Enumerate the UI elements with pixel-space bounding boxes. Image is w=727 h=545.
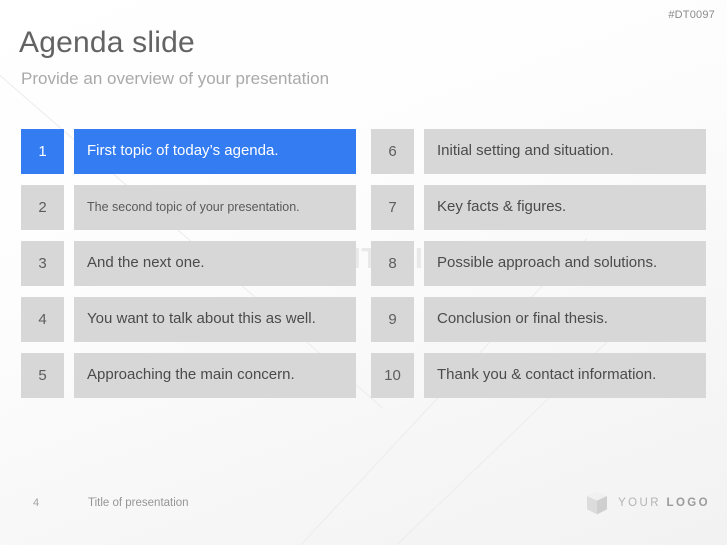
agenda-item-number: 10 <box>371 353 414 398</box>
agenda-item-3[interactable]: 3And the next one. <box>21 241 356 286</box>
agenda-item-7[interactable]: 7Key facts & figures. <box>371 185 706 230</box>
logo-text-light: YOUR <box>618 497 666 509</box>
agenda-column-left: 1First topic of today’s agenda.2The seco… <box>21 129 356 409</box>
agenda-item-label: And the next one. <box>74 241 356 286</box>
agenda-item-label: Possible approach and solutions. <box>424 241 706 286</box>
agenda-slide: PRESENTATIONLOAD #DT0097 Agenda slide Pr… <box>0 0 727 545</box>
agenda-item-label: Initial setting and situation. <box>424 129 706 174</box>
logo: YOUR LOGO <box>586 491 710 515</box>
agenda-item-label: You want to talk about this as well. <box>74 297 356 342</box>
agenda-item-8[interactable]: 8Possible approach and solutions. <box>371 241 706 286</box>
agenda-item-label: Approaching the main concern. <box>74 353 356 398</box>
agenda-grid: 1First topic of today’s agenda.2The seco… <box>0 0 727 545</box>
agenda-item-label: Thank you & contact information. <box>424 353 706 398</box>
agenda-item-number: 8 <box>371 241 414 286</box>
logo-text: YOUR LOGO <box>618 497 710 509</box>
cube-logo-icon <box>586 491 608 515</box>
agenda-item-number: 3 <box>21 241 64 286</box>
agenda-item-4[interactable]: 4You want to talk about this as well. <box>21 297 356 342</box>
agenda-item-2[interactable]: 2The second topic of your presentation. <box>21 185 356 230</box>
agenda-item-6[interactable]: 6Initial setting and situation. <box>371 129 706 174</box>
agenda-item-number: 5 <box>21 353 64 398</box>
agenda-item-number: 2 <box>21 185 64 230</box>
agenda-item-label: Key facts & figures. <box>424 185 706 230</box>
agenda-item-10[interactable]: 10Thank you & contact information. <box>371 353 706 398</box>
agenda-item-5[interactable]: 5Approaching the main concern. <box>21 353 356 398</box>
agenda-item-number: 7 <box>371 185 414 230</box>
footer-presentation-title: Title of presentation <box>88 497 189 509</box>
agenda-item-1[interactable]: 1First topic of today’s agenda. <box>21 129 356 174</box>
logo-text-bold: LOGO <box>667 497 710 509</box>
agenda-item-label: First topic of today’s agenda. <box>74 129 356 174</box>
agenda-item-number: 6 <box>371 129 414 174</box>
agenda-item-9[interactable]: 9Conclusion or final thesis. <box>371 297 706 342</box>
agenda-item-number: 1 <box>21 129 64 174</box>
agenda-column-right: 6Initial setting and situation.7Key fact… <box>371 129 706 409</box>
agenda-item-number: 4 <box>21 297 64 342</box>
footer-page-number: 4 <box>33 497 39 509</box>
agenda-item-label: The second topic of your presentation. <box>74 185 356 230</box>
agenda-item-label: Conclusion or final thesis. <box>424 297 706 342</box>
agenda-item-number: 9 <box>371 297 414 342</box>
